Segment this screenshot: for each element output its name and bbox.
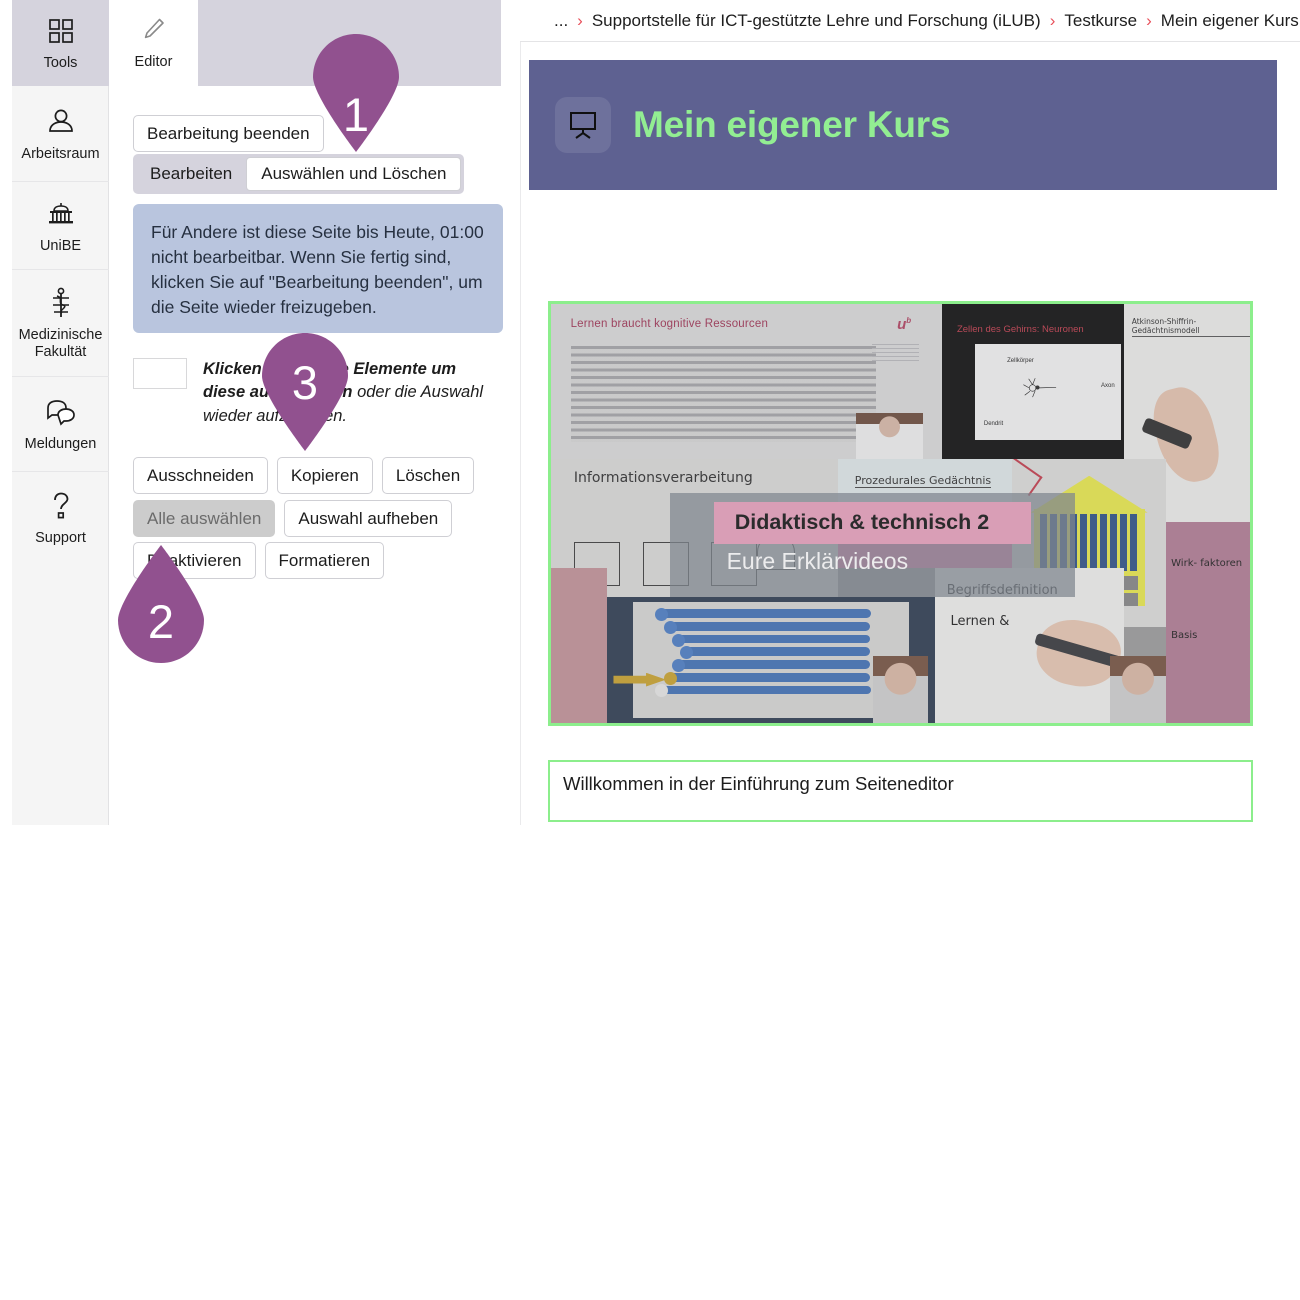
select-all-button[interactable]: Alle auswählen <box>133 500 275 537</box>
sidebar-item-label: Medizinische Fakultät <box>14 327 107 360</box>
collage-neuron-diagram: Zellkörper Axon Dendrit <box>975 344 1120 440</box>
collage-webcam-overlay <box>1110 656 1166 723</box>
list-dot <box>664 621 677 634</box>
sidebar-item-label: Meldungen <box>25 436 97 453</box>
course-content-area: Mein eigener Kurs Lernen braucht kogniti… <box>520 42 1300 825</box>
action-row-1: Ausschneiden Kopieren Löschen <box>133 457 474 494</box>
neuron-shape-icon <box>1016 371 1060 404</box>
sidebar-item-label: UniBE <box>40 238 81 255</box>
handwriting-wirkfaktoren: Wirk- faktoren <box>1171 558 1242 569</box>
list-bar <box>661 686 871 695</box>
marker-pin-3: 3 <box>262 333 348 451</box>
tab-editor-label: Editor <box>135 54 173 70</box>
list-bar <box>686 647 871 656</box>
list-dot-highlight <box>664 672 677 685</box>
tab-auswaehlen-und-loeschen[interactable]: Auswählen und Löschen <box>246 157 461 191</box>
tab-editor[interactable]: Editor <box>109 0 198 86</box>
handwriting-basis: Basis <box>1171 630 1197 641</box>
page-text-block-content: Willkommen in der Einführung zum Seitene… <box>563 773 954 794</box>
collage-subtitle: Eure Erklärvideos <box>727 548 909 575</box>
handwriting-atkinson: Atkinson-Shiffrin-Gedächtnismodell <box>1132 317 1250 337</box>
list-dot <box>672 659 685 672</box>
list-bar <box>677 660 870 669</box>
marker-pin-2: 2 <box>118 545 204 663</box>
empty-placeholder-box[interactable] <box>133 358 187 389</box>
collage-presenter-webcam <box>856 413 923 460</box>
course-title: Mein eigener Kurs <box>633 104 950 146</box>
collage-title-badge-text: Didaktisch & technisch 2 <box>735 510 990 535</box>
breadcrumb: ... › Supportstelle für ICT-gestützte Le… <box>520 0 1300 42</box>
list-dot <box>680 646 693 659</box>
red-arrow-icon <box>1012 459 1042 497</box>
list-dot <box>655 684 668 697</box>
marker-pin-number: 1 <box>313 91 399 138</box>
breadcrumb-item-current[interactable]: Mein eigener Kurs <box>1161 11 1299 31</box>
list-slide-card <box>633 602 909 718</box>
collage-slide-neurons: Zellen des Gehirns: Neuronen Zellkörper … <box>942 304 1124 459</box>
speech-bubbles-icon <box>45 395 77 429</box>
asclepius-staff-icon <box>50 286 72 320</box>
handwriting-informationsverarbeitung: Informationsverarbeitung <box>574 470 753 486</box>
sidebar-item-label: Tools <box>44 55 78 72</box>
collage-slide-body-text <box>571 346 876 442</box>
editor-panel: Bearbeitung beenden Bearbeiten Auswählen… <box>109 86 501 825</box>
sidebar-item-support[interactable]: Support <box>12 472 109 564</box>
neuron-label-dendrit: Dendrit <box>984 421 1003 427</box>
collage-right-panel: Wirk- faktoren Basis <box>1166 522 1250 723</box>
grid-icon <box>48 14 74 48</box>
pencil-icon <box>141 16 167 46</box>
marker-pin-number: 2 <box>118 598 204 645</box>
list-bar <box>661 609 871 618</box>
collage-dark-slide-title: Zellen des Gehirns: Neuronen <box>957 324 1084 335</box>
media-thumbnail-selected[interactable]: Lernen braucht kognitive Ressourcen ub Z… <box>548 301 1253 726</box>
page-text-block-selected[interactable]: Willkommen in der Einführung zum Seitene… <box>548 760 1253 822</box>
format-button[interactable]: Formatieren <box>265 542 385 579</box>
chevron-right-icon: › <box>568 12 592 29</box>
sidebar-item-tools[interactable]: Tools <box>12 0 109 86</box>
selection-hint-text: Klicken Sie auf die Elemente um diese au… <box>203 358 501 428</box>
breadcrumb-item-ilub[interactable]: Supportstelle für ICT-gestützte Lehre un… <box>592 11 1041 31</box>
university-building-icon <box>46 197 76 231</box>
cut-button[interactable]: Ausschneiden <box>133 457 268 494</box>
handwriting-lernen: Lernen & <box>951 614 1010 629</box>
deselect-button[interactable]: Auswahl aufheben <box>284 500 452 537</box>
sidebar-item-label: Arbeitsraum <box>21 146 99 163</box>
left-icon-rail: Tools Arbeitsraum <box>12 0 109 825</box>
collage-slide-cognitive-load: Lernen braucht kognitive Ressourcen ub <box>551 304 942 459</box>
collage-left-pink-strip <box>551 568 607 723</box>
presentation-board-icon <box>555 97 611 153</box>
breadcrumb-ellipsis[interactable]: ... <box>554 11 568 31</box>
person-icon <box>46 105 76 139</box>
end-editing-button[interactable]: Bearbeitung beenden <box>133 115 324 152</box>
action-row-2: Alle auswählen Auswahl aufheben <box>133 500 452 537</box>
list-bar <box>669 673 870 682</box>
marker-pin-number: 3 <box>262 359 348 406</box>
page-root: Tools Arbeitsraum <box>0 0 1300 1300</box>
list-dot <box>655 608 668 621</box>
neuron-label-axon: Axon <box>1101 383 1115 389</box>
question-mark-icon <box>50 489 72 523</box>
collage-title-overlay: Didaktisch & technisch 2 Eure Erklärvide… <box>670 493 1075 598</box>
collage-slide-title: Lernen braucht kognitive Ressourcen <box>571 318 769 330</box>
neuron-label-zellkoerper: Zellkörper <box>1007 358 1034 364</box>
collage-webcam-overlay <box>873 656 929 723</box>
list-bar <box>677 635 870 644</box>
chevron-right-icon: › <box>1137 12 1161 29</box>
collage-title-badge: Didaktisch & technisch 2 <box>714 502 1030 544</box>
mode-tab-group: Bearbeiten Auswählen und Löschen <box>133 154 464 194</box>
handwriting-prozedurales: Prozedurales Gedächtnis <box>855 474 991 488</box>
chevron-right-icon: › <box>1041 12 1065 29</box>
sidebar-item-medizinische-fakultaet[interactable]: Medizinische Fakultät <box>12 270 109 377</box>
tab-bearbeiten[interactable]: Bearbeiten <box>136 158 246 190</box>
breadcrumb-item-testkurse[interactable]: Testkurse <box>1064 11 1137 31</box>
sidebar-item-unibe[interactable]: UniBE <box>12 182 109 270</box>
copy-button[interactable]: Kopieren <box>277 457 373 494</box>
list-dot <box>672 634 685 647</box>
sidebar-item-label: Support <box>35 530 86 547</box>
delete-button[interactable]: Löschen <box>382 457 474 494</box>
edit-lock-info-box: Für Andere ist diese Seite bis Heute, 01… <box>133 204 503 333</box>
sidebar-item-meldungen[interactable]: Meldungen <box>12 377 109 472</box>
marker-pin-1: 1 <box>313 34 399 152</box>
unibe-logo: ub <box>897 316 911 333</box>
collage-logo-lines <box>872 344 919 363</box>
list-bar <box>669 622 870 631</box>
editor-tabstrip: Editor <box>109 0 501 86</box>
course-banner: Mein eigener Kurs <box>529 60 1277 190</box>
sidebar-item-arbeitsraum[interactable]: Arbeitsraum <box>12 86 109 182</box>
